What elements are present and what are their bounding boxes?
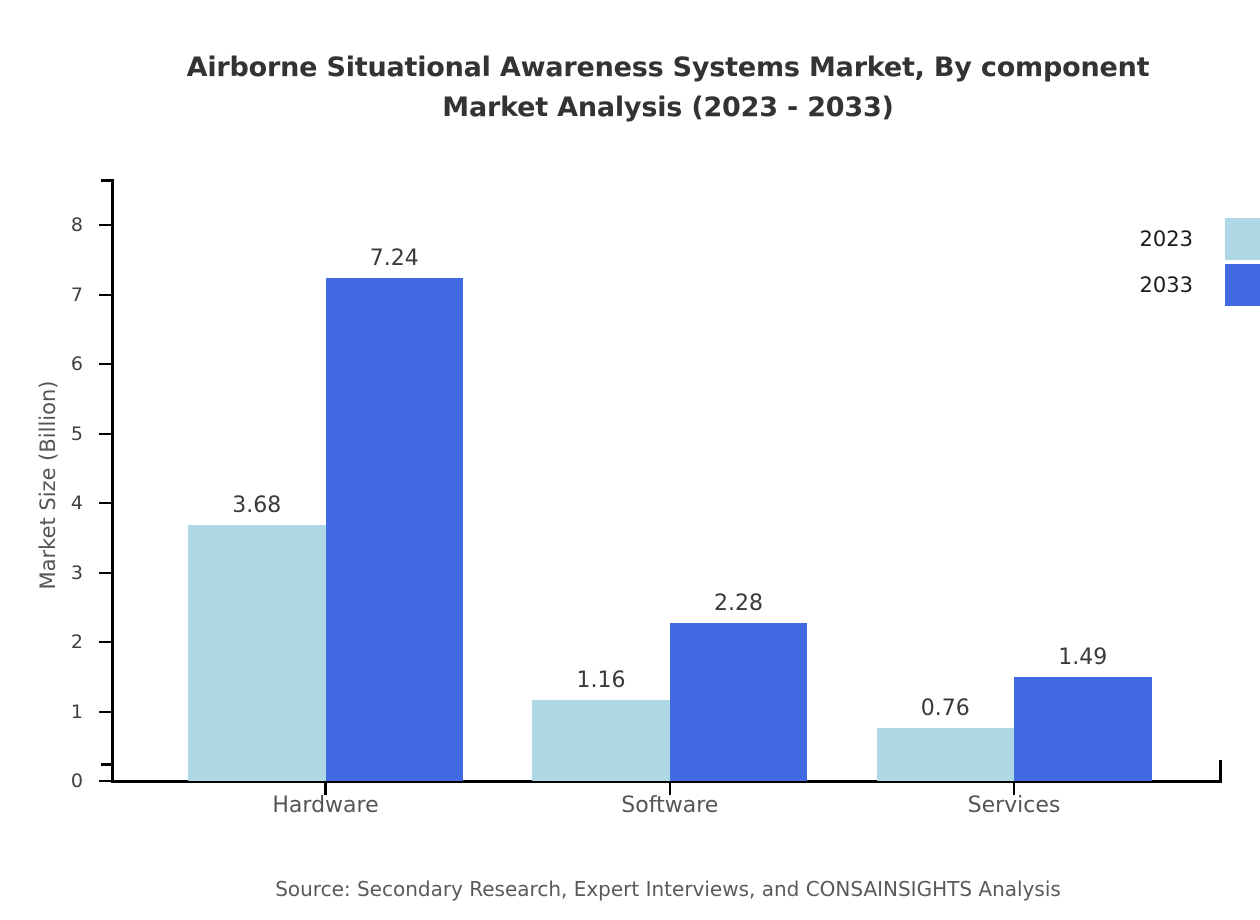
y-tick-2	[99, 641, 112, 643]
y-tick-1	[99, 711, 112, 713]
y-tick-label-4: 4	[71, 492, 83, 514]
bar-value-label-hardware-2033: 7.24	[370, 246, 419, 271]
x-axis-label-hardware: Hardware	[272, 793, 378, 818]
legend-swatch-2033	[1225, 264, 1260, 306]
y-tick-label-0: 0	[71, 770, 83, 792]
y-tick-8	[99, 224, 112, 226]
bar-hardware-2033[interactable]	[326, 278, 464, 781]
bar-services-2023[interactable]	[877, 728, 1015, 781]
legend-swatch-2023	[1225, 218, 1260, 260]
y-tick-4	[99, 502, 112, 504]
y-axis-title: Market Size (Billion)	[36, 205, 60, 765]
y-tick-3	[99, 572, 112, 574]
y-tick-label-8: 8	[71, 214, 83, 236]
y-axis-top-cap	[101, 179, 112, 182]
x-axis-label-software: Software	[621, 793, 718, 818]
bar-value-label-software-2033: 2.28	[714, 591, 763, 616]
x-axis-end-cap	[1219, 760, 1222, 781]
bar-value-label-hardware-2023: 3.68	[232, 493, 281, 518]
y-tick-5	[99, 433, 112, 435]
bar-services-2033[interactable]	[1014, 677, 1152, 781]
y-tick-label-7: 7	[71, 284, 83, 306]
chart-legend: 20232033	[1131, 218, 1260, 310]
y-tick-label-2: 2	[71, 631, 83, 653]
legend-item-2033[interactable]: 2033	[1131, 264, 1260, 310]
y-tick-label-5: 5	[71, 423, 83, 445]
legend-label-2023: 2023	[1131, 227, 1193, 251]
y-tick-label-6: 6	[71, 353, 83, 375]
y-tick-0	[99, 780, 112, 782]
y-tick-7	[99, 294, 112, 296]
y-tick-label-3: 3	[71, 562, 83, 584]
x-axis-label-services: Services	[968, 793, 1061, 818]
legend-label-2033: 2033	[1131, 273, 1193, 297]
y-axis-bottom-cap	[101, 763, 112, 766]
y-tick-label-1: 1	[71, 701, 83, 723]
legend-item-2023[interactable]: 2023	[1131, 218, 1260, 264]
bar-software-2033[interactable]	[670, 623, 808, 781]
bar-value-label-services-2023: 0.76	[921, 696, 970, 721]
bar-hardware-2023[interactable]	[188, 525, 326, 781]
bar-value-label-software-2023: 1.16	[577, 668, 626, 693]
y-axis-spine	[111, 179, 114, 783]
bar-chart-plot-area: Market Size (Billion) 012345678 Hardware…	[0, 0, 1260, 920]
bar-value-label-services-2033: 1.49	[1058, 645, 1107, 670]
y-tick-6	[99, 363, 112, 365]
bar-software-2023[interactable]	[532, 700, 670, 781]
source-note: Source: Secondary Research, Expert Inter…	[0, 877, 1260, 901]
